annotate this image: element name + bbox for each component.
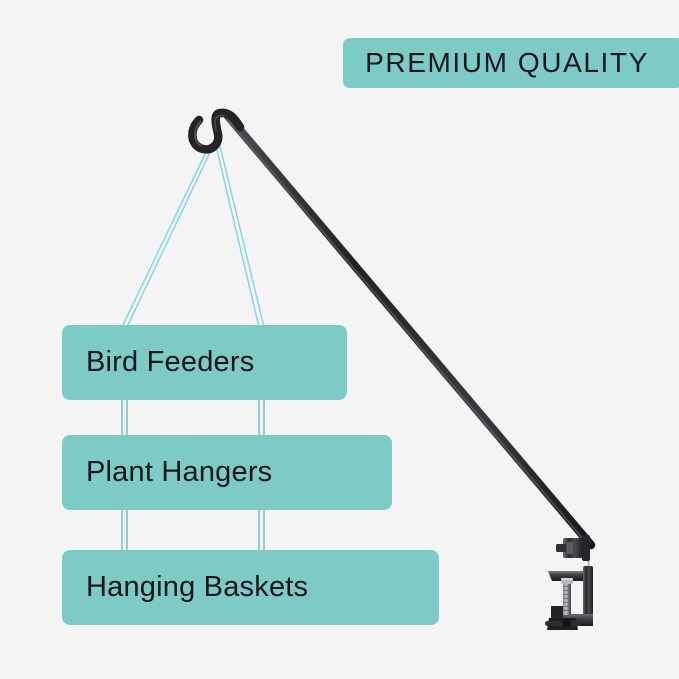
feature-label-plant-hangers: Plant Hangers — [86, 456, 272, 489]
s-hook — [192, 113, 240, 150]
hanger-strings — [122, 146, 264, 327]
feature-box-plant-hangers: Plant Hangers — [62, 435, 392, 510]
premium-quality-banner: PREMIUM QUALITY — [343, 38, 679, 88]
feature-label-bird-feeders: Bird Feeders — [86, 346, 254, 379]
product-image-canvas: PREMIUM QUALITY Bird Feeders Plant Hange… — [0, 0, 679, 679]
feature-box-bird-feeders: Bird Feeders — [62, 325, 347, 400]
c-clamp — [548, 566, 593, 626]
feature-box-hanging-baskets: Hanging Baskets — [62, 550, 439, 625]
premium-quality-label: PREMIUM QUALITY — [365, 47, 649, 79]
feature-label-hanging-baskets: Hanging Baskets — [86, 571, 308, 604]
pole-bracket — [556, 535, 590, 561]
clamp-thumb-screw — [545, 578, 581, 630]
